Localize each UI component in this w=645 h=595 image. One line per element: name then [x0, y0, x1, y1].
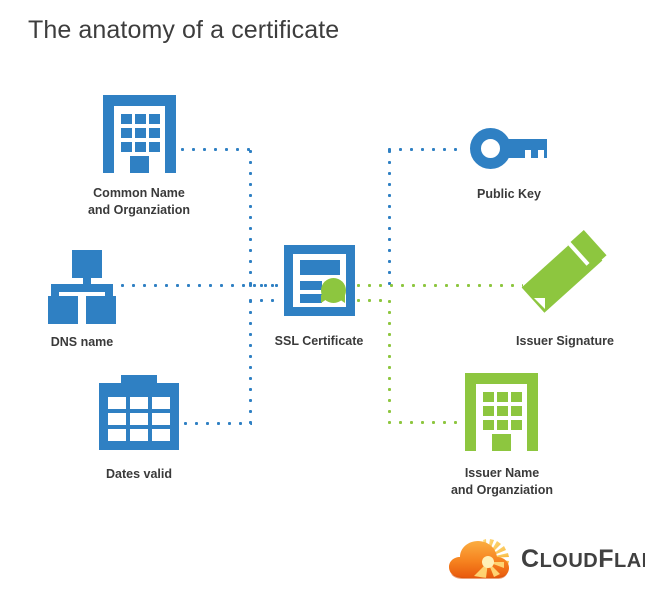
logo-text-cloud: LOUD — [540, 550, 599, 572]
connector-public-key-h2 — [388, 148, 464, 151]
certificate-icon — [284, 245, 355, 316]
connector-common-name-h1 — [181, 148, 252, 151]
node-dates-valid-label: Dates valid — [69, 466, 209, 483]
key-icon — [470, 128, 547, 169]
logo-text-flare: LARE — [614, 550, 645, 572]
calendar-icon — [99, 375, 179, 450]
connector-issuer-name-h2 — [388, 421, 460, 424]
node-dns-name-label: DNS name — [12, 334, 152, 351]
connector-dns-name-h — [121, 284, 282, 287]
building-icon — [103, 95, 176, 173]
pencil-icon — [524, 245, 606, 317]
cloudflare-cloud-icon — [447, 536, 519, 582]
node-common-name-label: Common Name and Organziation — [49, 185, 229, 219]
connector-public-key-v — [388, 150, 391, 286]
page-title: The anatomy of a certificate — [28, 16, 339, 45]
cloudflare-wordmark: CLOUDFLARE — [521, 548, 645, 572]
connector-dates-valid-h2 — [249, 299, 282, 302]
connector-common-name-v — [249, 150, 252, 286]
connector-dates-valid-h1 — [184, 422, 252, 425]
node-ssl-certificate-label: SSL Certificate — [249, 333, 389, 350]
connector-issuer-name-h1 — [357, 299, 390, 302]
logo-letter-c: C — [521, 545, 540, 573]
node-issuer-signature-label: Issuer Signature — [495, 333, 635, 350]
infographic-canvas: The anatomy of a certificate — [0, 0, 645, 595]
connector-dates-valid-v — [249, 300, 252, 424]
logo-letter-f: F — [598, 545, 614, 573]
node-public-key-label: Public Key — [439, 186, 579, 203]
building-icon — [465, 373, 538, 451]
sitemap-icon — [48, 250, 116, 314]
connector-issuer-signature-h — [357, 284, 523, 287]
connector-issuer-name-v — [388, 300, 391, 422]
cloudflare-logo: CLOUDFLARE — [447, 536, 632, 584]
node-issuer-name-label: Issuer Name and Organziation — [412, 465, 592, 499]
